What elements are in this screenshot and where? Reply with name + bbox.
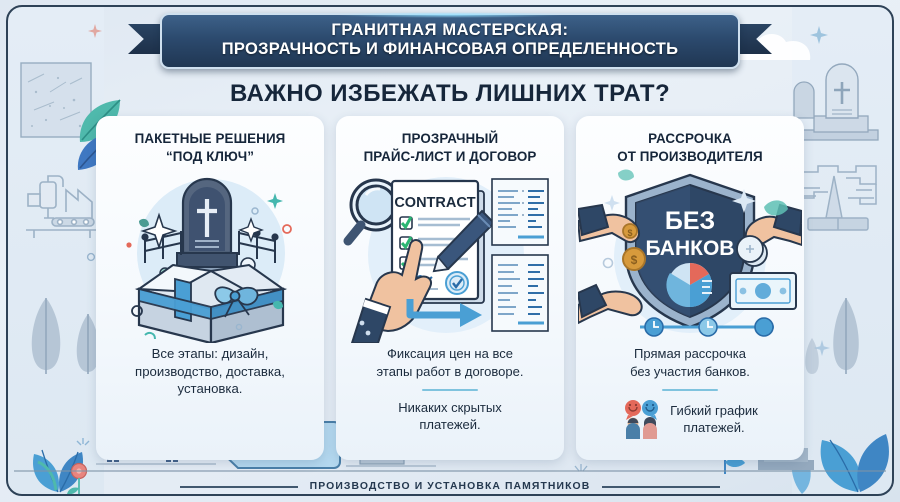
footer-text: ПРОИЗВОДСТВО И УСТАНОВКА ПАМЯТНИКОВ — [310, 481, 591, 492]
card-title: ПАКЕТНЫЕ РЕШЕНИЯ “ПОД КЛЮЧ” — [129, 130, 292, 165]
footer-rule-left — [180, 486, 298, 488]
header-title-line2: ПРОЗРАЧНОСТЬ И ФИНАНСОВАЯ ОПРЕДЕЛЕННОСТЬ — [222, 39, 678, 60]
body-divider — [662, 389, 718, 391]
factory-machine-icon — [22, 172, 102, 244]
header-title-line1: ГРАНИТНАЯ МАСТЕРСКАЯ: — [331, 22, 568, 39]
card-transparent-pricelist[interactable]: ПРОЗРАЧНЫЙ ПРАЙС-ЛИСТ И ДОГОВОР — [336, 116, 564, 460]
card-body-line2: производство, доставка, — [135, 363, 285, 381]
body-divider — [422, 389, 478, 391]
ribbon-banner: ГРАНИТНАЯ МАСТЕРСКАЯ: ПРОЗРАЧНОСТЬ И ФИН… — [160, 13, 740, 69]
card-body2-line1: Никаких скрытых — [377, 399, 524, 416]
card-body2-column: Гибкий график платежей. — [670, 402, 758, 437]
dot-icon — [86, 252, 96, 262]
card-body: Все этапы: дизайн, производство, доставк… — [121, 345, 299, 398]
card-body: Прямая рассрочка без участия банков. — [608, 345, 772, 439]
card-body2-line2: платежей. — [377, 416, 524, 433]
card-packaged-solutions[interactable]: ПАКЕТНЫЕ РЕШЕНИЯ “ПОД КЛЮЧ” — [96, 116, 324, 460]
footer-rule-right — [602, 486, 720, 488]
people-chat-icon — [622, 399, 664, 439]
footer: ПРОИЗВОДСТВО И УСТАНОВКА ПАМЯТНИКОВ — [0, 481, 900, 492]
card-artwork: БЕЗ БАНКОВ $ $ — [576, 167, 804, 345]
sparkle-icon — [74, 436, 92, 454]
shield-text-line2: БАНКОВ — [646, 237, 735, 260]
card-body-line1: Все этапы: дизайн, — [135, 345, 285, 363]
cards-row: ПАКЕТНЫЕ РЕШЕНИЯ “ПОД КЛЮЧ” — [96, 116, 804, 460]
contract-magnifier-pen-illustration: CONTRACT — [342, 167, 558, 343]
header-ribbon: ГРАНИТНАЯ МАСТЕРСКАЯ: ПРОЗРАЧНОСТЬ И ФИН… — [0, 8, 900, 72]
shield-text-line1: БЕЗ — [665, 207, 715, 235]
card-title: РАССРОЧКА ОТ ПРОИЗВОДИТЕЛЯ — [611, 130, 769, 165]
contract-heading: CONTRACT — [394, 195, 475, 211]
quarry-icon — [794, 158, 882, 238]
card-title-line2: ОТ ПРОИЗВОДИТЕЛЯ — [617, 148, 763, 166]
card-body-line3: установка. — [135, 380, 285, 398]
gift-box-monument-illustration — [115, 167, 305, 343]
card-body-line2: без участия банков. — [622, 363, 758, 380]
card-body2-line2: платежей. — [670, 419, 758, 436]
card-artwork — [96, 167, 324, 345]
infographic-poster: ГРАНИТНАЯ МАСТЕРСКАЯ: ПРОЗРАЧНОСТЬ И ФИН… — [0, 0, 900, 502]
coin-symbol: $ — [631, 253, 638, 267]
card-body: Фиксация цен на все этапы работ в догово… — [363, 345, 538, 433]
card-body-line2: этапы работ в договоре. — [377, 363, 524, 380]
card-title-line1: ПРОЗРАЧНЫЙ — [364, 130, 537, 148]
card-body-line1: Прямая рассрочка — [622, 345, 758, 362]
card-body2-row: Гибкий график платежей. — [622, 399, 758, 439]
sparkle-icon — [814, 340, 830, 356]
card-body-line1: Фиксация цен на все — [377, 345, 524, 362]
shield-no-banks-illustration: БЕЗ БАНКОВ $ $ — [578, 167, 802, 343]
card-title-line1: ПАКЕТНЫЕ РЕШЕНИЯ — [135, 130, 286, 148]
card-title-line2: ПРАЙС-ЛИСТ И ДОГОВОР — [364, 148, 537, 166]
coin-symbol: $ — [627, 228, 632, 238]
ground-line — [14, 470, 886, 472]
card-title-line1: РАССРОЧКА — [617, 130, 763, 148]
card-title-line2: “ПОД КЛЮЧ” — [135, 148, 286, 166]
card-installment-from-maker[interactable]: РАССРОЧКА ОТ ПРОИЗВОДИТЕЛЯ БЕЗ БАНКОВ — [576, 116, 804, 460]
page-subtitle: ВАЖНО ИЗБЕЖАТЬ ЛИШНИХ ТРАТ? — [0, 80, 900, 108]
card-body2-line1: Гибкий график — [670, 402, 758, 419]
card-artwork: CONTRACT — [336, 167, 564, 345]
tree-icon — [800, 258, 886, 376]
card-title: ПРОЗРАЧНЫЙ ПРАЙС-ЛИСТ И ДОГОВОР — [358, 130, 543, 165]
